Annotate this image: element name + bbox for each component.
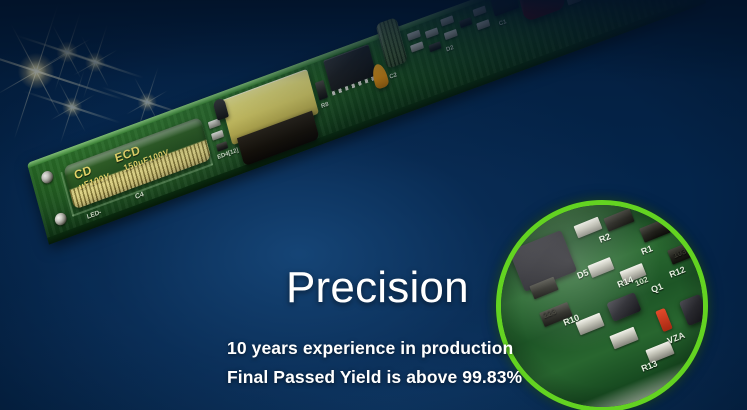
headline-precision: Precision bbox=[286, 263, 469, 313]
banner-image: CD ECD uF100V 150uF100V C4 LED- ED4[12] … bbox=[0, 0, 747, 410]
subline-yield: Final Passed Yield is above 99.83% bbox=[227, 367, 522, 388]
subline-experience: 10 years experience in production bbox=[227, 338, 513, 359]
pcb-detail-magnifier: R2 R1 R12 R14 D5 Q1 R10 R13 VZA 223 103 … bbox=[496, 200, 708, 410]
magnifier-lens-shading bbox=[501, 205, 703, 407]
